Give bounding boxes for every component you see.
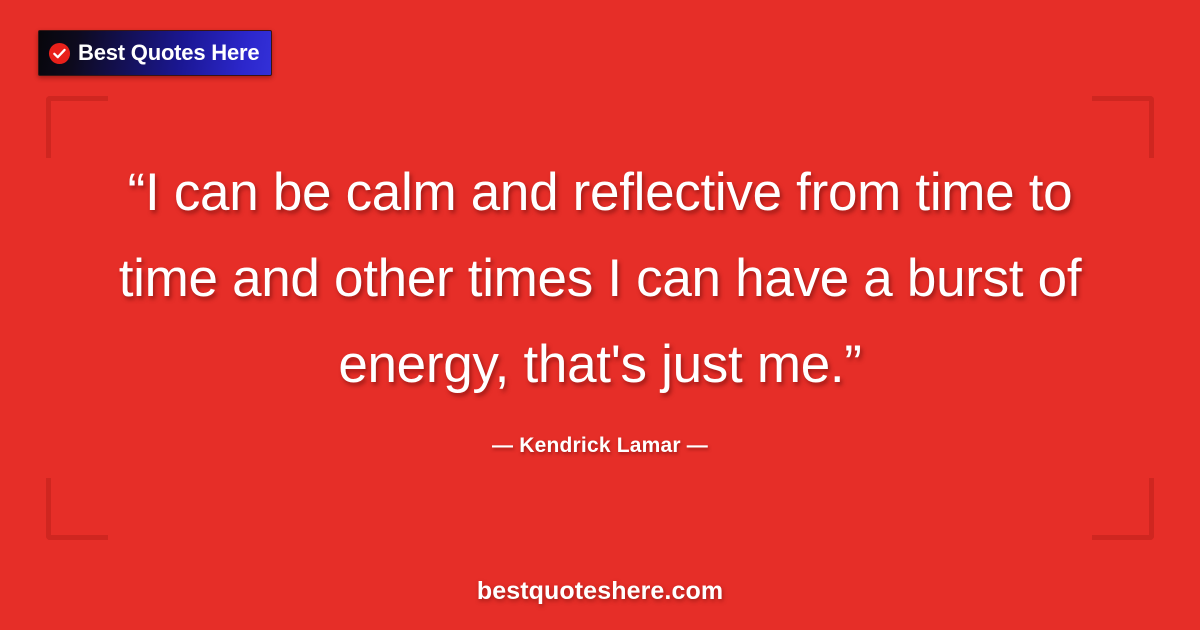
quote-text: “I can be calm and reflective from time …: [70, 150, 1130, 408]
corner-bracket-top-left: [46, 96, 108, 158]
corner-bracket-top-right: [1092, 96, 1154, 158]
corner-bracket-bottom-left: [46, 478, 108, 540]
logo-label: Best Quotes Here: [78, 42, 259, 64]
logo-badge[interactable]: Best Quotes Here: [38, 30, 272, 76]
quote-card: { "colors": { "background_red": "#e62e28…: [0, 0, 1200, 630]
footer-website-url: bestquoteshere.com: [0, 577, 1200, 606]
corner-bracket-bottom-right: [1092, 478, 1154, 540]
quote-block: “I can be calm and reflective from time …: [70, 150, 1130, 458]
check-circle-icon: [48, 42, 71, 65]
quote-attribution: — Kendrick Lamar —: [70, 434, 1130, 458]
